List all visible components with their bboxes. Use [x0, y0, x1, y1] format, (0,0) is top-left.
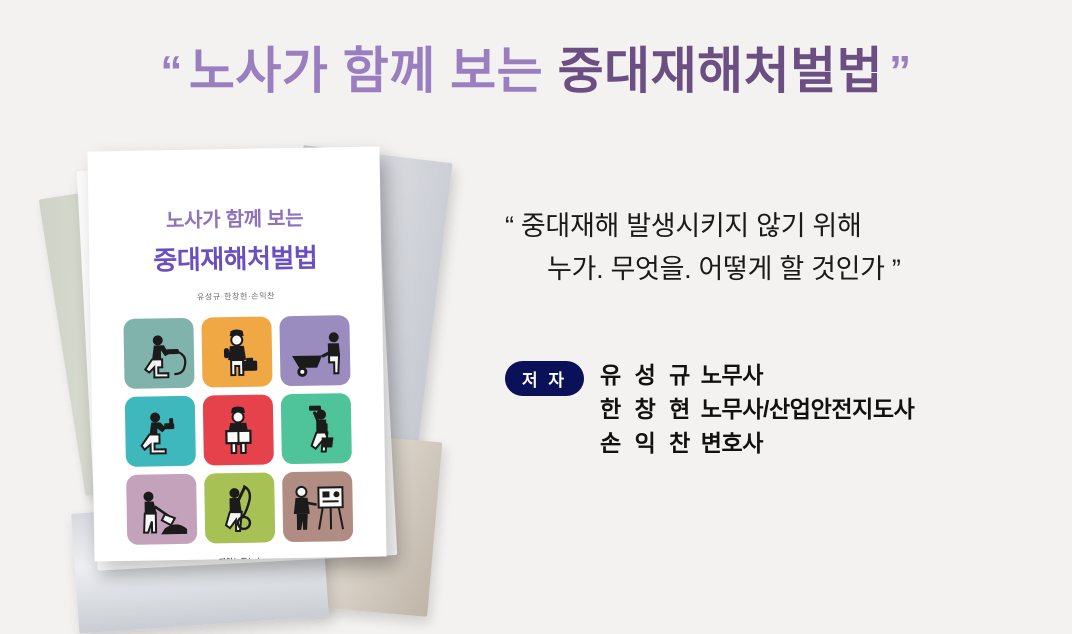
author-role: 노무사/산업안전지도사 — [701, 396, 915, 422]
author-list: 유 성 규노무사 한 창 현노무사/산업안전지도사 손 익 찬변호사 — [600, 358, 914, 460]
author-name: 한 창 현 — [600, 396, 694, 422]
page-title: “노사가 함께 보는 중대재해처벌법” — [0, 44, 1072, 99]
cover-title-line2: 중대재해처벌법 — [153, 238, 318, 278]
tile-worker-shoveling — [126, 474, 197, 545]
author-name: 유 성 규 — [600, 362, 694, 388]
title-open-quote: “ — [154, 47, 189, 96]
author-badge: 저 자 — [505, 361, 584, 396]
book-stack: 노사가 함께 보는 중대재해처벌법 유성규·한창현·손익찬 — [55, 135, 475, 585]
cover-authors-byline: 유성규·한창현·손익찬 — [197, 290, 275, 302]
author-role: 노무사 — [701, 362, 763, 388]
tile-worker-wheelbarrow — [279, 315, 350, 386]
title-dark-part: 중대재해처벌법 — [558, 43, 884, 99]
tile-worker-carrying-hose — [204, 472, 275, 543]
title-close-quote: ” — [883, 47, 918, 96]
tile-worker-kneeling-tool — [125, 396, 196, 467]
cover-title-line1: 노사가 함께 보는 — [166, 202, 304, 233]
book-cover-image: 노사가 함께 보는 중대재해처벌법 유성규·한창현·손익찬 — [87, 146, 386, 561]
pull-quote-line1: “ 중대재해 발생시키지 않기 위해 — [505, 205, 1060, 248]
pull-quote-line2: 누가. 무엇을. 어떻게 할 것인가 ” — [505, 248, 1060, 291]
tile-worker-with-toolbox — [201, 316, 272, 387]
tile-worker-painting — [281, 393, 352, 464]
author-row: 손 익 찬변호사 — [600, 426, 914, 460]
cover-pictogram-grid — [123, 315, 353, 545]
author-row: 유 성 규노무사 — [600, 358, 914, 392]
author-role: 변호사 — [701, 430, 763, 456]
pull-quote: “ 중대재해 발생시키지 않기 위해 누가. 무엇을. 어떻게 할 것인가 ” — [505, 205, 1060, 290]
tile-worker-drilling — [123, 318, 194, 389]
right-content-panel: “ 중대재해 발생시키지 않기 위해 누가. 무엇을. 어떻게 할 것인가 ” … — [505, 205, 1060, 460]
tile-worker-reading-manual — [203, 394, 274, 465]
author-row: 한 창 현노무사/산업안전지도사 — [600, 392, 914, 426]
author-name: 손 익 찬 — [600, 430, 694, 456]
tile-worker-presenting — [282, 471, 353, 542]
author-block: 저 자 유 성 규노무사 한 창 현노무사/산업안전지도사 손 익 찬변호사 — [505, 358, 1060, 460]
title-light-part: 노사가 함께 보는 — [189, 43, 543, 99]
